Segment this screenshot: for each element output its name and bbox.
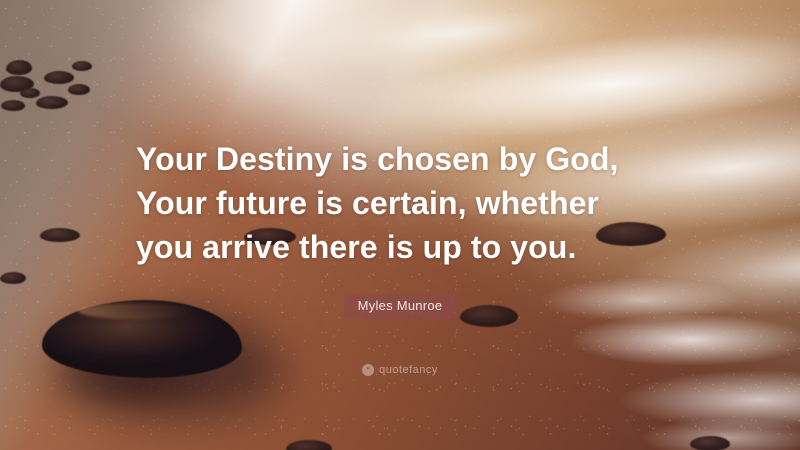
rock-small-14 (286, 440, 332, 450)
rock-small-7 (1, 100, 25, 111)
rock-small-9 (40, 228, 80, 242)
rock-small-1 (6, 60, 32, 75)
watermark-label: quotefancy (379, 364, 438, 376)
author-name: Myles Munroe (358, 298, 443, 313)
quote-line-3: you arrive there is up to you. (136, 225, 619, 269)
quote-mark-badge-icon: “ (362, 364, 374, 376)
large-rock-highlight (78, 303, 196, 319)
rock-small-6 (36, 96, 68, 109)
quote-line-1: Your Destiny is chosen by God, (136, 137, 619, 181)
author-badge: Myles Munroe (345, 294, 456, 319)
quotefancy-watermark: “ quotefancy (362, 364, 438, 376)
rock-small-5 (20, 88, 40, 98)
quote-line-2: Your future is certain, whether (136, 181, 619, 225)
rock-small-15 (690, 436, 730, 450)
rock-small-12 (460, 305, 518, 327)
rock-small-10 (0, 272, 26, 284)
quote-image-canvas: Your Destiny is chosen by God, Your futu… (0, 0, 800, 450)
rock-small-4 (68, 84, 90, 95)
rock-small-8 (72, 61, 92, 71)
quote-text-block: Your Destiny is chosen by God, Your futu… (136, 137, 619, 269)
rock-small-3 (44, 71, 74, 84)
